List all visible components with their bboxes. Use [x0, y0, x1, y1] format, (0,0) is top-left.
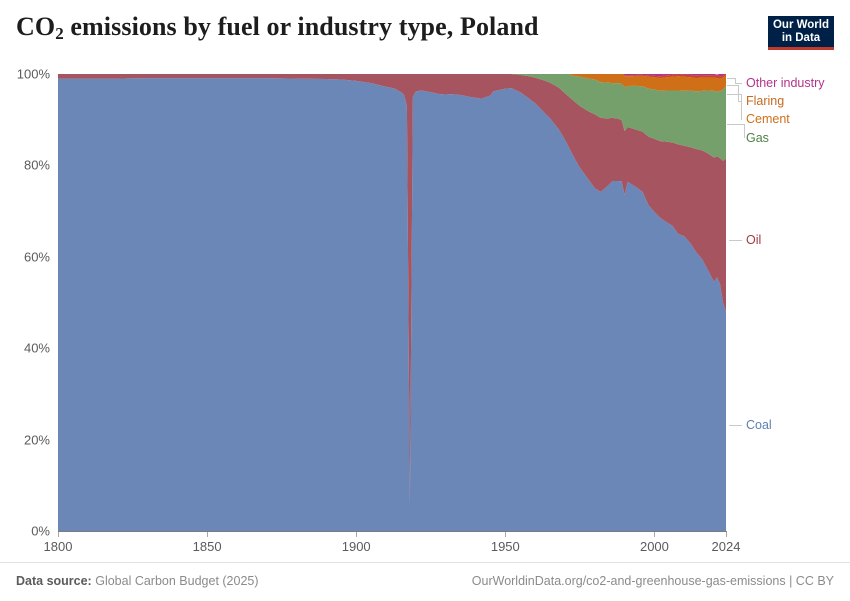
chart-footer: Data source: Global Carbon Budget (2025)… [0, 562, 850, 601]
x-tick [726, 532, 727, 537]
owid-logo-line1: Our World [768, 19, 834, 32]
chart-header: CO2 emissions by fuel or industry type, … [0, 0, 850, 62]
x-tick [207, 532, 208, 537]
y-tick-label: 40% [24, 341, 50, 356]
series-connector [729, 240, 742, 241]
y-tick-label: 20% [24, 432, 50, 447]
x-tick-label: 1950 [491, 539, 520, 554]
stacked-area-plot[interactable] [58, 74, 726, 531]
y-axis: 0%20%40%60%80%100% [0, 62, 58, 543]
page-title-subscript: 2 [55, 24, 64, 43]
owid-logo[interactable]: Our World in Data [768, 16, 834, 50]
attribution-link[interactable]: OurWorldinData.org/co2-and-greenhouse-ga… [472, 574, 834, 588]
page-title-text: CO [16, 12, 55, 41]
series-connector [727, 78, 735, 79]
series-connector [735, 83, 742, 84]
series-label-coal[interactable]: Coal [746, 418, 772, 432]
series-connector [741, 119, 742, 120]
y-tick-label: 0% [31, 524, 50, 539]
x-tick [58, 532, 59, 537]
series-connector [727, 124, 744, 125]
series-label-oil[interactable]: Oil [746, 233, 761, 247]
data-source: Data source: Global Carbon Budget (2025) [16, 574, 259, 588]
x-axis-line [58, 531, 727, 532]
area-chart-svg [58, 74, 726, 531]
y-tick-label: 100% [17, 67, 50, 82]
x-tick-label: 1850 [193, 539, 222, 554]
x-tick [505, 532, 506, 537]
series-label-cement[interactable]: Cement [746, 112, 790, 126]
data-source-label: Data source: [16, 574, 92, 588]
x-tick [356, 532, 357, 537]
series-connector [729, 425, 742, 426]
series-connector [727, 85, 738, 86]
series-label-flaring[interactable]: Flaring [746, 94, 784, 108]
series-label-other-industry[interactable]: Other industry [746, 76, 825, 90]
x-tick [654, 532, 655, 537]
x-tick-label: 1900 [342, 539, 371, 554]
series-connector [738, 85, 739, 101]
y-tick-label: 80% [24, 158, 50, 173]
owid-logo-line2: in Data [768, 32, 834, 45]
y-tick-label: 60% [24, 249, 50, 264]
x-tick-label: 1800 [44, 539, 73, 554]
series-connector [727, 94, 741, 95]
x-tick-label: 2000 [640, 539, 669, 554]
series-connector [741, 94, 742, 119]
series-connector [744, 124, 745, 138]
page-title: CO2 emissions by fuel or industry type, … [16, 12, 539, 42]
x-tick-label: 2024 [712, 539, 741, 554]
series-label-gas[interactable]: Gas [746, 131, 769, 145]
data-source-value: Global Carbon Budget (2025) [95, 574, 258, 588]
page-title-rest: emissions by fuel or industry type, Pola… [64, 12, 539, 41]
chart-plot-wrapper: 0%20%40%60%80%100% 180018501900195020002… [0, 62, 850, 562]
